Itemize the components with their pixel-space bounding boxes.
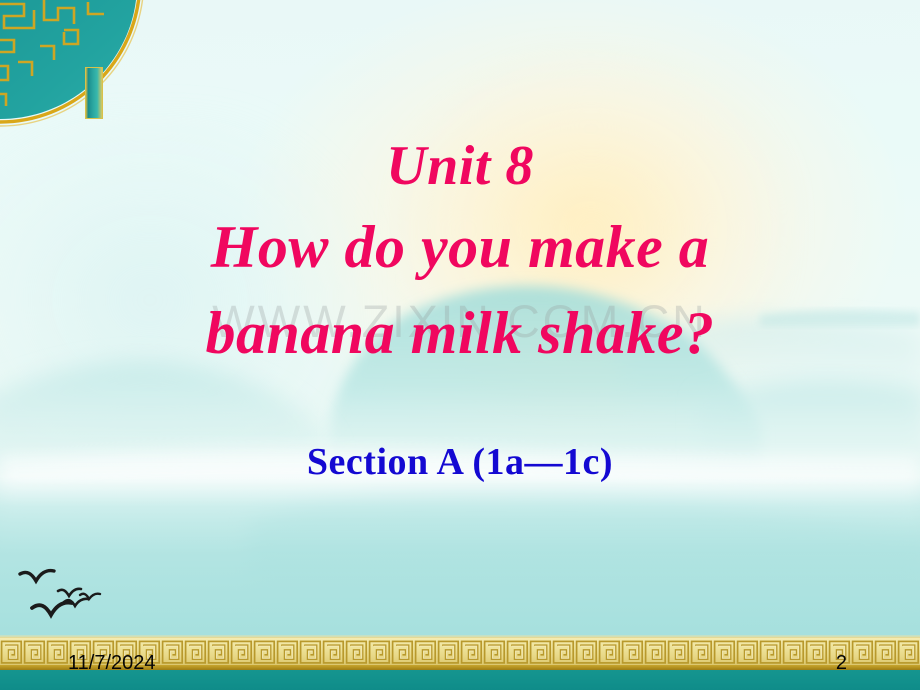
background-water-band [0, 477, 920, 642]
title-line-3: banana milk shake? [0, 290, 920, 376]
corner-ornament-icon [0, 0, 150, 132]
title-line-1: Unit 8 [0, 128, 920, 204]
slide-title: Unit 8 How do you make a banana milk sha… [0, 128, 920, 376]
footer-date: 11/7/2024 [68, 652, 156, 675]
presentation-slide: WWW.ZIXIN.COM.CN Unit 8 How do you make … [0, 0, 920, 690]
corner-accent-bar [85, 67, 103, 119]
footer-top-rim [0, 635, 920, 638]
slide-subtitle: Section A (1a—1c) [0, 437, 920, 487]
slide-footer: 11/7/2024 2 [0, 632, 920, 690]
title-line-2: How do you make a [0, 204, 920, 290]
flying-birds-icon [14, 558, 134, 630]
footer-page-number: 2 [836, 652, 847, 675]
